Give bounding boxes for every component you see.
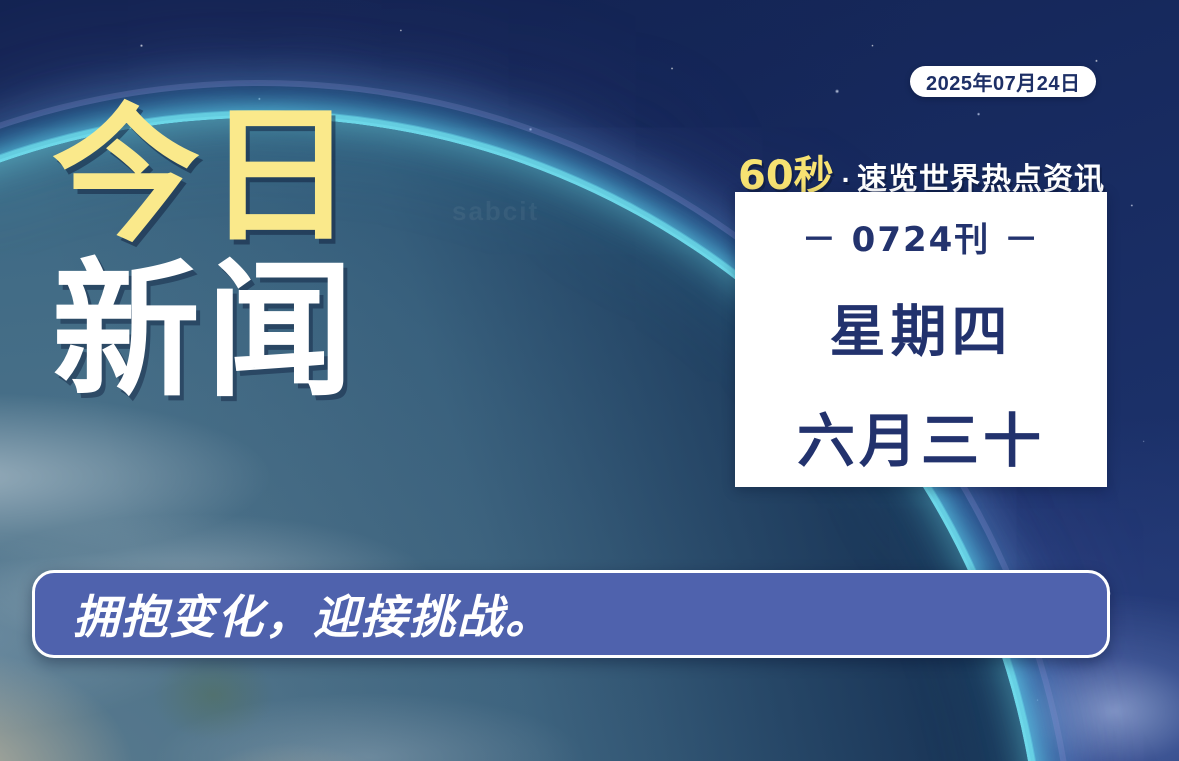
news-poster: sabcit 今日 新闻 2025年07月24日 60秒 · 速览世界热点资讯 … bbox=[0, 0, 1179, 761]
masthead: 今日 新闻 bbox=[52, 104, 360, 404]
quote-banner: 拥抱变化，迎接挑战。 bbox=[32, 570, 1110, 658]
card-lunar-date: 六月三十 bbox=[797, 394, 1045, 478]
date-info-card: － 0724刊 － 星期四 六月三十 bbox=[735, 192, 1107, 487]
card-issue-number: － 0724刊 － bbox=[802, 212, 1040, 261]
date-badge-label: 2025年07月24日 bbox=[926, 67, 1080, 96]
date-badge: 2025年07月24日 bbox=[910, 66, 1096, 97]
card-weekday: 星期四 bbox=[830, 287, 1013, 368]
watermark-text: sabcit bbox=[452, 196, 539, 227]
masthead-line-news: 新闻 bbox=[52, 259, 360, 404]
masthead-line-today: 今日 bbox=[52, 104, 360, 249]
quote-banner-text: 拥抱变化，迎接挑战。 bbox=[73, 581, 553, 647]
